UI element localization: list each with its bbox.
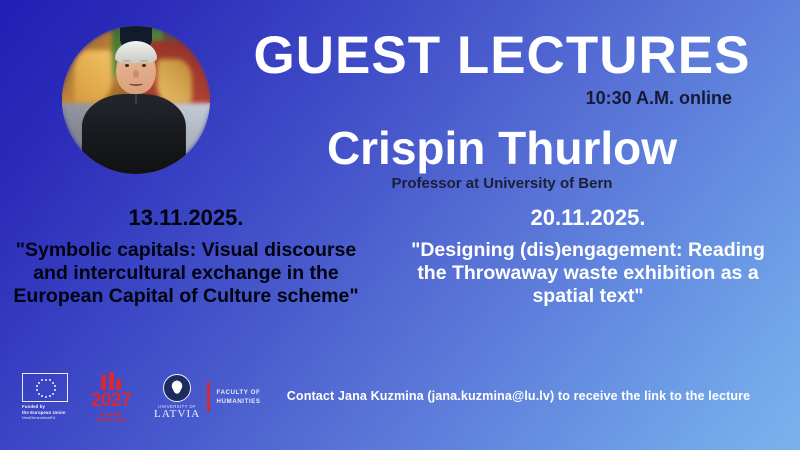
recovery-year: 2027 bbox=[91, 391, 131, 410]
lecture-time: 10:30 A.M. online bbox=[232, 88, 732, 109]
portrait-jacket bbox=[82, 94, 186, 174]
recovery-line2: attiesības plāns bbox=[96, 417, 127, 422]
poster-canvas: GUEST LECTURES 10:30 A.M. online Crispin… bbox=[0, 0, 800, 450]
speaker-portrait bbox=[62, 26, 210, 174]
recovery-plan-logo: 2027 Nacionālās attiesības plāns bbox=[82, 372, 140, 423]
university-name: LATVIA bbox=[154, 409, 200, 420]
eu-flag-icon bbox=[22, 373, 68, 402]
lecture-date: 20.11.2025. bbox=[398, 206, 778, 230]
logo-row: Funded by the European Union NextGenerat… bbox=[22, 372, 261, 423]
page-title: GUEST LECTURES bbox=[232, 29, 772, 82]
lecture-topic: "Symbolic capitals: Visual discourse and… bbox=[0, 239, 376, 307]
university-of-latvia-logo: UNIVERSITY OF LATVIA FACULTY OF HUMANITI… bbox=[154, 374, 261, 420]
recovery-bars-icon bbox=[101, 372, 121, 390]
lecture-entry-2: 20.11.2025. "Designing (dis)engagement: … bbox=[398, 206, 778, 308]
contact-info: Contact Jana Kuzmina (jana.kuzmina@lu.lv… bbox=[246, 389, 791, 403]
logo-divider bbox=[207, 382, 209, 412]
speaker-affiliation: Professor at University of Bern bbox=[232, 175, 772, 192]
eu-funding-line3: NextGenerationEU bbox=[22, 416, 66, 421]
eu-funding-logo: Funded by the European Union NextGenerat… bbox=[22, 373, 68, 421]
speaker-name: Crispin Thurlow bbox=[232, 125, 772, 171]
lecture-topic: "Designing (dis)engagement: Reading the … bbox=[398, 239, 778, 307]
lecture-date: 13.11.2025. bbox=[0, 206, 376, 230]
lecture-entry-1: 13.11.2025. "Symbolic capitals: Visual d… bbox=[0, 206, 376, 308]
university-seal-icon bbox=[163, 374, 191, 402]
